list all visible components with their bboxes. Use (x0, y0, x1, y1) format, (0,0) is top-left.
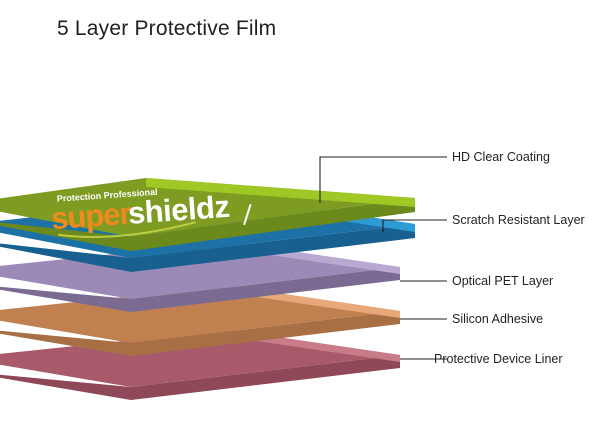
label-scratch-resistant-layer: Scratch Resistant Layer (452, 213, 585, 227)
layer-stack-diagram: Protection Professional super shieldz HD… (0, 0, 600, 423)
brand-name-super: super (50, 196, 133, 237)
label-silicon-adhesive: Silicon Adhesive (452, 312, 543, 326)
diagram-canvas: 5 Layer Protective Film (0, 0, 600, 423)
label-optical-pet-layer: Optical PET Layer (452, 274, 553, 288)
label-protective-device-liner: Protective Device Liner (434, 352, 563, 366)
label-hd-clear-coating: HD Clear Coating (452, 150, 550, 164)
brand-name-shieldz: shieldz (127, 189, 231, 231)
